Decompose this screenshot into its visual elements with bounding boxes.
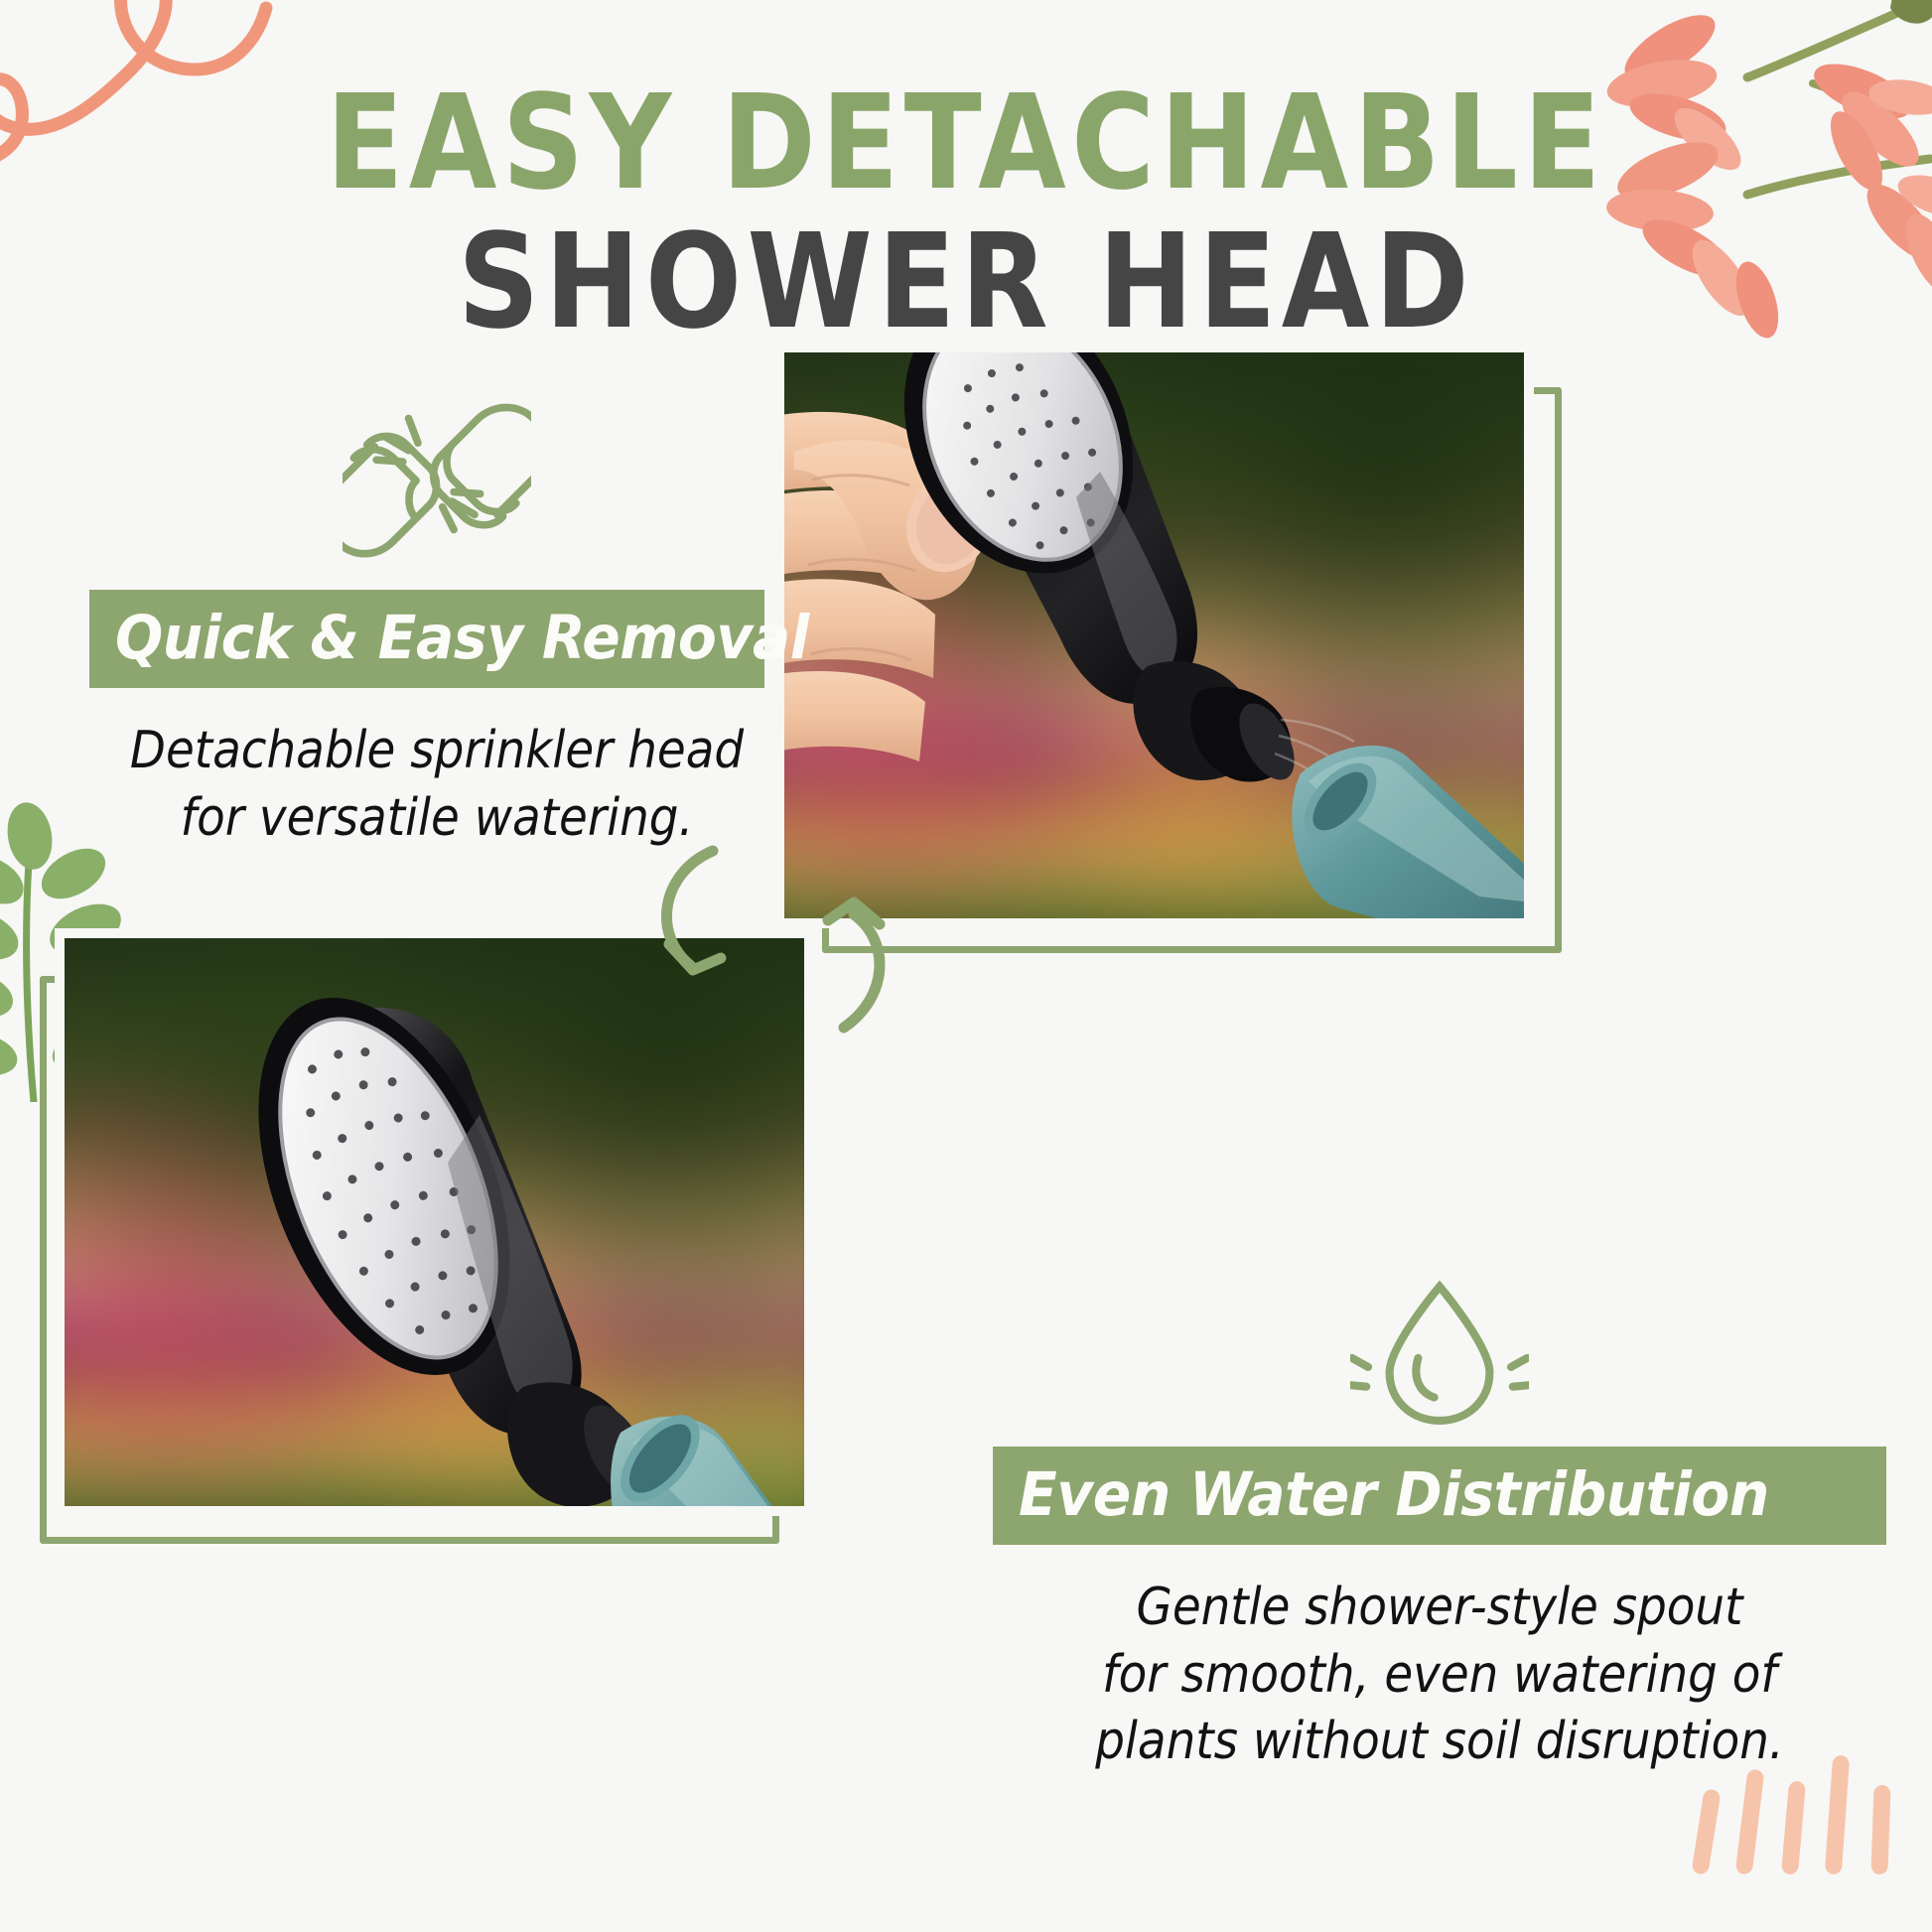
- feature-banner-distribution: Even Water Distribution: [993, 1447, 1886, 1545]
- feature-body-removal: Detachable sprinkler head for versatile …: [124, 718, 750, 852]
- title-line-1: EASY DETACHABLE: [0, 77, 1932, 210]
- photo-image-hand: [784, 352, 1524, 918]
- feature-body-line: Detachable sprinkler head: [124, 718, 750, 785]
- feature-body-line: Gentle shower-style spout: [1037, 1575, 1842, 1642]
- feature-block-removal: Quick & Easy Removal Detachable sprinkle…: [89, 397, 784, 852]
- feature-banner-label: Even Water Distribution: [1019, 1464, 1769, 1525]
- feature-banner-removal: Quick & Easy Removal: [89, 590, 764, 688]
- broken-link-icon: [89, 397, 784, 568]
- water-droplet-icon: [993, 1281, 1886, 1425]
- feature-block-distribution: Even Water Distribution Gentle shower-st…: [993, 1281, 1886, 1776]
- infographic-canvas: EASY DETACHABLE SHOWER HEAD: [0, 0, 1932, 1932]
- feature-body-line: plants without soil disruption.: [1037, 1709, 1842, 1776]
- page-title: EASY DETACHABLE SHOWER HEAD: [0, 77, 1932, 326]
- feature-body-distribution: Gentle shower-style spout for smooth, ev…: [1037, 1575, 1842, 1776]
- flow-arrow-icon: [655, 839, 913, 1037]
- title-line-2: SHOWER HEAD: [0, 216, 1932, 349]
- feature-body-line: for smooth, even watering of: [1037, 1642, 1842, 1710]
- feature-banner-label: Quick & Easy Removal: [115, 608, 809, 668]
- product-photo-hand-detaching[interactable]: [784, 352, 1539, 923]
